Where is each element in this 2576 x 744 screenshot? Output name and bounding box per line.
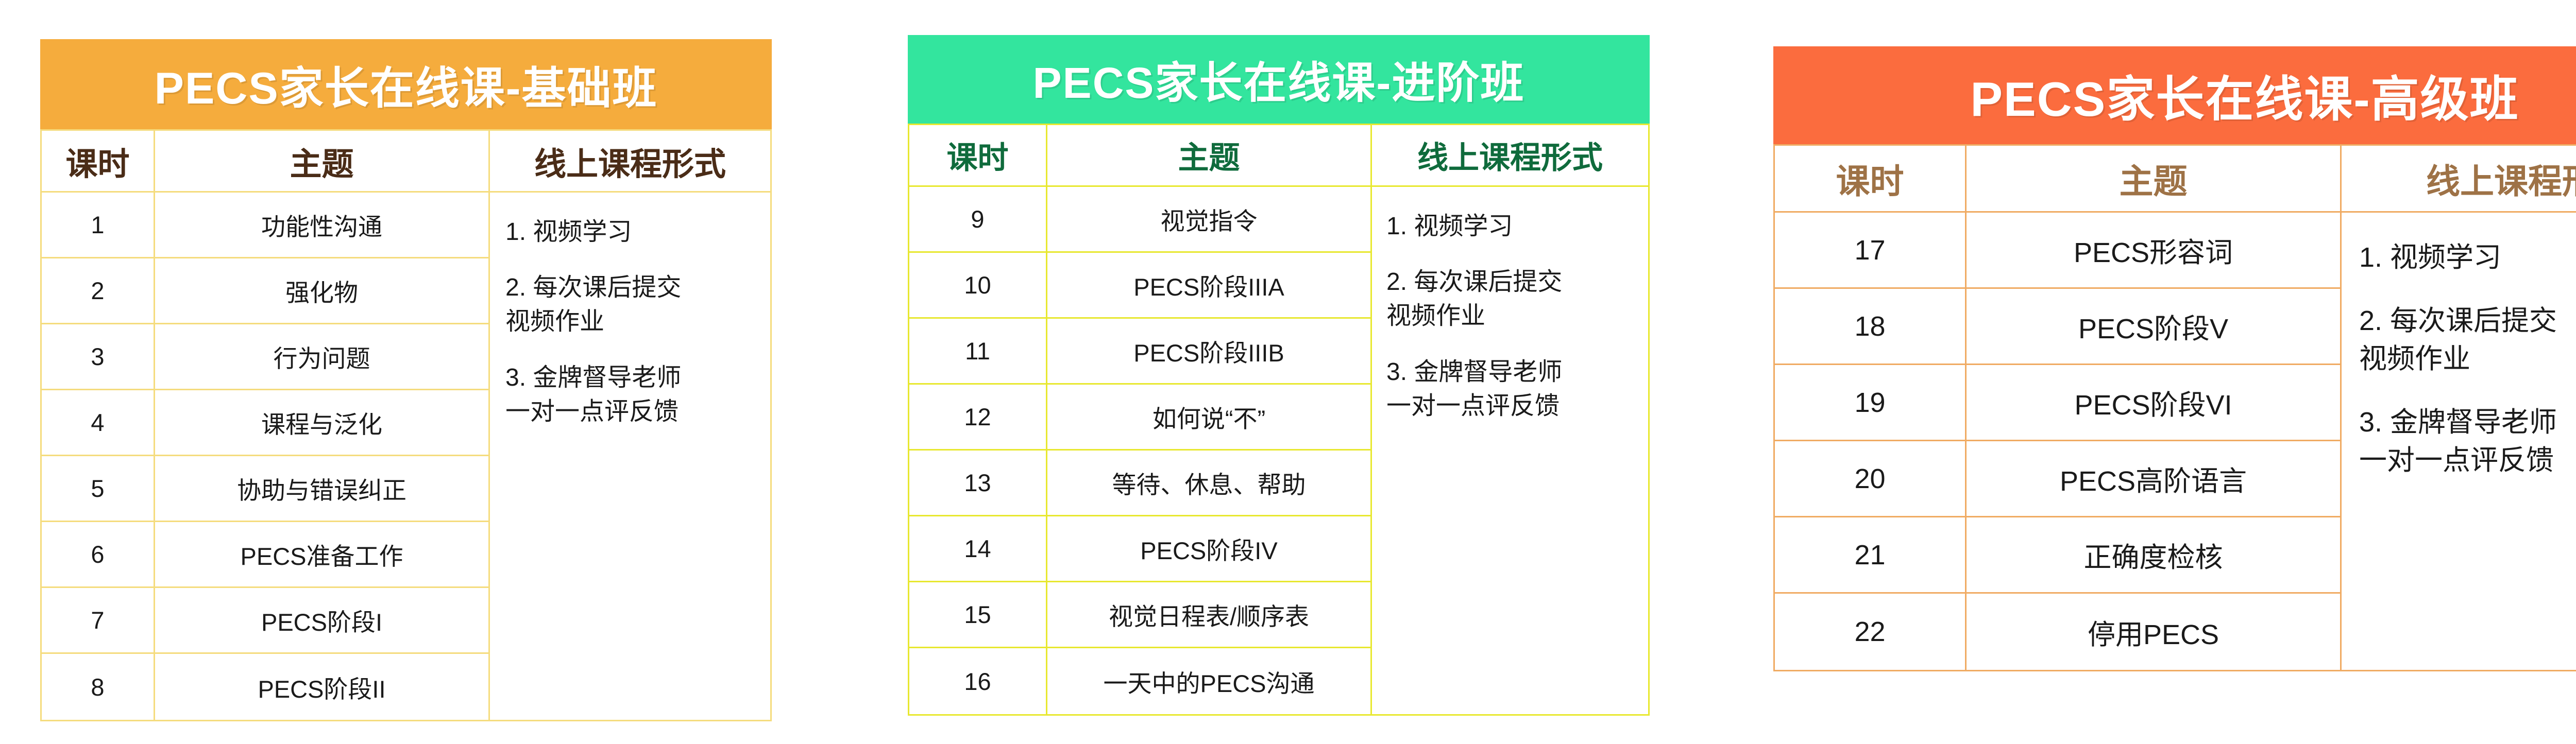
column-lesson-advanced: 课时 17 18 19 20 21 22: [1775, 146, 1967, 670]
table-row: PECS阶段IV: [1047, 516, 1370, 582]
column-lesson-intermediate: 课时 9 10 11 12 13 14 15 16: [909, 125, 1047, 714]
column-topic-basic: 主题 功能性沟通 强化物 行为问题 课程与泛化 协助与错误纠正 PECS准备工作…: [155, 131, 490, 720]
table-row: 6: [42, 522, 154, 588]
course-format-item: 1. 视频学习: [1386, 210, 1638, 244]
column-header-topic: 主题: [1967, 146, 2340, 213]
table-row: 15: [909, 582, 1046, 648]
course-format-item: 3. 金牌督导老师 一对一点评反馈: [1386, 355, 1638, 423]
course-format-list: 1. 视频学习 2. 每次课后提交 视频作业 3. 金牌督导老师 一对一点评反馈: [2342, 213, 2576, 670]
table-row: 协助与错误纠正: [155, 456, 488, 522]
table-row: 3: [42, 324, 154, 390]
course-format-list: 1. 视频学习 2. 每次课后提交 视频作业 3. 金牌督导老师 一对一点评反馈: [490, 193, 770, 720]
table-row: PECS阶段II: [155, 654, 488, 720]
table-title-basic: PECS家长在线课-基础班: [40, 39, 772, 129]
table-row: PECS准备工作: [155, 522, 488, 588]
column-header-topic: 主题: [155, 131, 488, 193]
course-table-intermediate: PECS家长在线课-进阶班 课时 9 10 11 12 13 14 15 16 …: [908, 35, 1650, 716]
course-format-item: 2. 每次课后提交 视频作业: [1386, 265, 1638, 333]
table-row: 11: [909, 319, 1046, 385]
table-row: 16: [909, 648, 1046, 714]
table-row: 7: [42, 588, 154, 654]
course-format-item: 3. 金牌督导老师 一对一点评反馈: [505, 361, 759, 429]
table-row: PECS形容词: [1967, 213, 2340, 289]
table-row: 视觉指令: [1047, 187, 1370, 253]
course-format-item: 1. 视频学习: [2359, 238, 2576, 277]
column-header-lesson: 课时: [1775, 146, 1965, 213]
table-row: 13: [909, 451, 1046, 516]
table-row: 18: [1775, 289, 1965, 365]
table-row: 21: [1775, 517, 1965, 594]
table-row: 一天中的PECS沟通: [1047, 648, 1370, 714]
column-header-format: 线上课程形式: [1372, 125, 1648, 187]
table-row: 1: [42, 193, 154, 258]
table-row: 19: [1775, 365, 1965, 441]
table-row: 等待、休息、帮助: [1047, 451, 1370, 516]
column-format-basic: 线上课程形式 1. 视频学习 2. 每次课后提交 视频作业 3. 金牌督导老师 …: [490, 131, 770, 720]
table-row: PECS阶段VI: [1967, 365, 2340, 441]
column-topic-advanced: 主题 PECS形容词 PECS阶段V PECS阶段VI PECS高阶语言 正确度…: [1967, 146, 2342, 670]
table-row: 4: [42, 390, 154, 456]
table-row: PECS阶段I: [155, 588, 488, 654]
table-row: 强化物: [155, 258, 488, 324]
table-row: 2: [42, 258, 154, 324]
column-topic-intermediate: 主题 视觉指令 PECS阶段IIIA PECS阶段IIIB 如何说“不” 等待、…: [1047, 125, 1372, 714]
column-format-intermediate: 线上课程形式 1. 视频学习 2. 每次课后提交 视频作业 3. 金牌督导老师 …: [1372, 125, 1648, 714]
column-header-format: 线上课程形式: [2342, 146, 2576, 213]
course-format-item: 2. 每次课后提交 视频作业: [2359, 302, 2576, 378]
course-grid-basic: 课时 1 2 3 4 5 6 7 8 主题 功能性沟通 强化物 行为问题 课程与…: [40, 129, 772, 721]
course-grid-advanced: 课时 17 18 19 20 21 22 主题 PECS形容词 PECS阶段V …: [1773, 144, 2576, 671]
table-row: 8: [42, 654, 154, 720]
course-format-item: 1. 视频学习: [505, 215, 759, 249]
course-table-advanced: PECS家长在线课-高级班 课时 17 18 19 20 21 22 主题 PE…: [1773, 46, 2576, 671]
course-format-item: 2. 每次课后提交 视频作业: [505, 271, 759, 339]
table-row: 停用PECS: [1967, 594, 2340, 670]
column-format-advanced: 线上课程形式 1. 视频学习 2. 每次课后提交 视频作业 3. 金牌督导老师 …: [2342, 146, 2576, 670]
table-row: 视觉日程表/顺序表: [1047, 582, 1370, 648]
course-table-basic: PECS家长在线课-基础班 课时 1 2 3 4 5 6 7 8 主题 功能性沟…: [40, 39, 772, 721]
table-row: 10: [909, 253, 1046, 319]
table-row: PECS阶段V: [1967, 289, 2340, 365]
table-row: PECS高阶语言: [1967, 441, 2340, 517]
column-lesson-basic: 课时 1 2 3 4 5 6 7 8: [42, 131, 155, 720]
table-row: PECS阶段IIIB: [1047, 319, 1370, 385]
column-header-topic: 主题: [1047, 125, 1370, 187]
column-header-lesson: 课时: [909, 125, 1046, 187]
table-title-advanced: PECS家长在线课-高级班: [1773, 46, 2576, 144]
table-row: 20: [1775, 441, 1965, 517]
table-row: PECS阶段IIIA: [1047, 253, 1370, 319]
table-row: 正确度检核: [1967, 517, 2340, 594]
table-row: 如何说“不”: [1047, 385, 1370, 451]
table-row: 功能性沟通: [155, 193, 488, 258]
column-header-lesson: 课时: [42, 131, 154, 193]
course-grid-intermediate: 课时 9 10 11 12 13 14 15 16 主题 视觉指令 PECS阶段…: [908, 124, 1650, 716]
table-row: 行为问题: [155, 324, 488, 390]
table-row: 9: [909, 187, 1046, 253]
table-row: 12: [909, 385, 1046, 451]
table-row: 课程与泛化: [155, 390, 488, 456]
table-title-intermediate: PECS家长在线课-进阶班: [908, 35, 1650, 124]
course-format-item: 3. 金牌督导老师 一对一点评反馈: [2359, 403, 2576, 480]
table-row: 17: [1775, 213, 1965, 289]
course-format-list: 1. 视频学习 2. 每次课后提交 视频作业 3. 金牌督导老师 一对一点评反馈: [1372, 187, 1648, 714]
column-header-format: 线上课程形式: [490, 131, 770, 193]
table-row: 5: [42, 456, 154, 522]
table-row: 14: [909, 516, 1046, 582]
course-schedule-board: PECS家长在线课-基础班 课时 1 2 3 4 5 6 7 8 主题 功能性沟…: [0, 0, 2576, 744]
table-row: 22: [1775, 594, 1965, 670]
